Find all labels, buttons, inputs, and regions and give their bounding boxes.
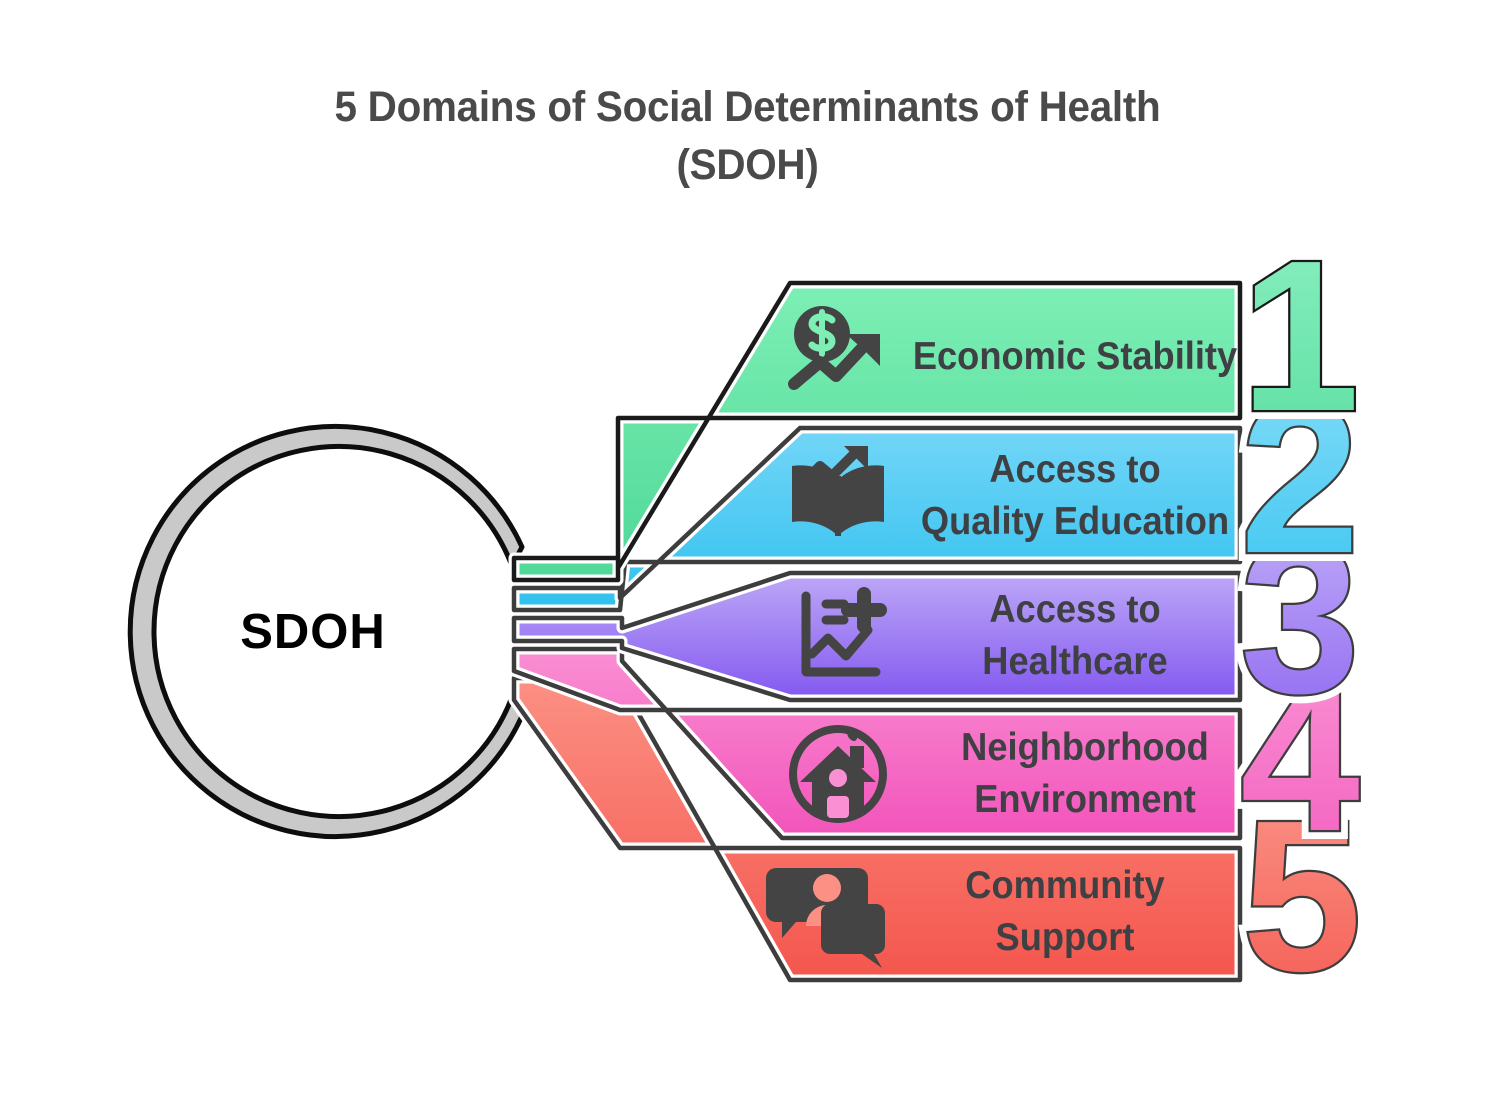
band-2-click-target[interactable] [800,428,1360,562]
band-5-click-target[interactable] [790,848,1360,980]
hub-click-target[interactable] [110,418,525,833]
band-3-click-target[interactable] [790,573,1360,700]
band-4-click-target[interactable] [782,710,1360,838]
infographic-canvas: 5 Domains of Social Determinants of Heal… [0,0,1495,1110]
band-1-click-target[interactable] [790,283,1360,418]
